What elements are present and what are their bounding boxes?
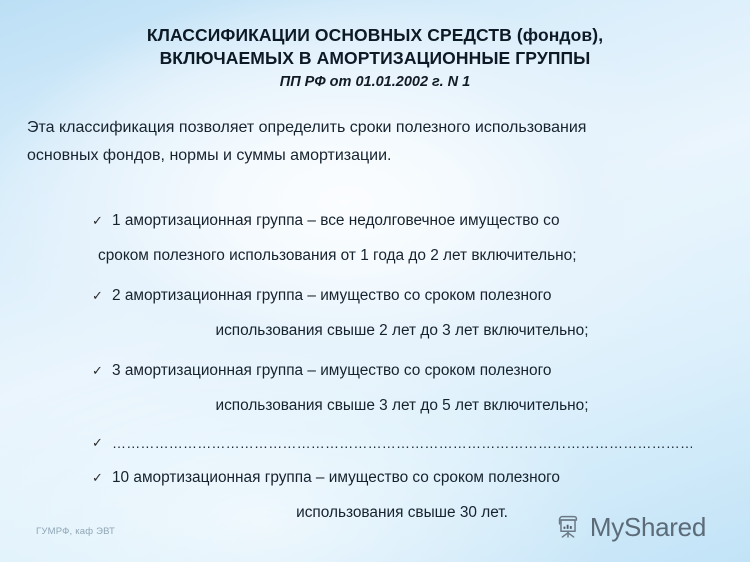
- check-icon: ✓: [92, 460, 108, 495]
- footer-note: ГУМРФ, каф ЭВТ: [36, 526, 115, 537]
- list-item-group-1: ✓ 1 амортизационная группа – все недолго…: [92, 203, 692, 273]
- presentation-board-icon: [553, 512, 583, 542]
- intro-line-2: основных фондов, нормы и суммы амортизац…: [27, 142, 717, 170]
- ellipsis-text: ……………………………………………………………………………………………………………: [92, 428, 692, 458]
- check-icon: ✓: [92, 353, 108, 388]
- list-item-line-1: 2 амортизационная группа – имущество со …: [112, 278, 692, 313]
- list-item-line-2: использования свыше 2 лет до 3 лет включ…: [112, 313, 692, 348]
- check-icon: ✓: [92, 278, 108, 313]
- list-item-line-1: 1 амортизационная группа – все недолгове…: [112, 203, 692, 238]
- list-item-text: 2 амортизационная группа – имущество со …: [92, 278, 692, 348]
- check-icon: ✓: [92, 203, 108, 238]
- title-line-1: КЛАССИФИКАЦИИ ОСНОВНЫХ СРЕДСТВ (фондов),: [40, 24, 710, 47]
- amortization-groups-list: ✓ 1 амортизационная группа – все недолго…: [92, 203, 692, 535]
- list-item-line-1: 10 амортизационная группа – имущество со…: [112, 460, 692, 495]
- list-item-text: 1 амортизационная группа – все недолгове…: [92, 203, 692, 273]
- myshared-logo[interactable]: MyShared: [553, 512, 706, 542]
- myshared-wordmark: MyShared: [590, 512, 706, 542]
- list-item-text: 3 амортизационная группа – имущество со …: [92, 353, 692, 423]
- list-item-ellipsis: ✓ ………………………………………………………………………………………………………: [92, 428, 692, 458]
- slide-title-block: КЛАССИФИКАЦИИ ОСНОВНЫХ СРЕДСТВ (фондов),…: [40, 24, 710, 92]
- list-item-group-3: ✓ 3 амортизационная группа – имущество с…: [92, 353, 692, 423]
- title-line-2: ВКЛЮЧАЕМЫХ В АМОРТИЗАЦИОННЫЕ ГРУППЫ: [40, 47, 710, 70]
- list-item-line-2: использования свыше 3 лет до 5 лет включ…: [112, 388, 692, 423]
- title-subtitle: ПП РФ от 01.01.2002 г. N 1: [40, 73, 710, 92]
- list-item-line-2: сроком полезного использования от 1 года…: [98, 238, 692, 273]
- presentation-slide: КЛАССИФИКАЦИИ ОСНОВНЫХ СРЕДСТВ (фондов),…: [0, 0, 750, 562]
- list-item-line-1: 3 амортизационная группа – имущество со …: [112, 353, 692, 388]
- intro-paragraph: Эта классификация позволяет определить с…: [27, 114, 717, 170]
- intro-line-1: Эта классификация позволяет определить с…: [27, 114, 717, 142]
- list-item-group-2: ✓ 2 амортизационная группа – имущество с…: [92, 278, 692, 348]
- check-icon: ✓: [92, 428, 108, 458]
- slide-content: КЛАССИФИКАЦИИ ОСНОВНЫХ СРЕДСТВ (фондов),…: [0, 0, 750, 562]
